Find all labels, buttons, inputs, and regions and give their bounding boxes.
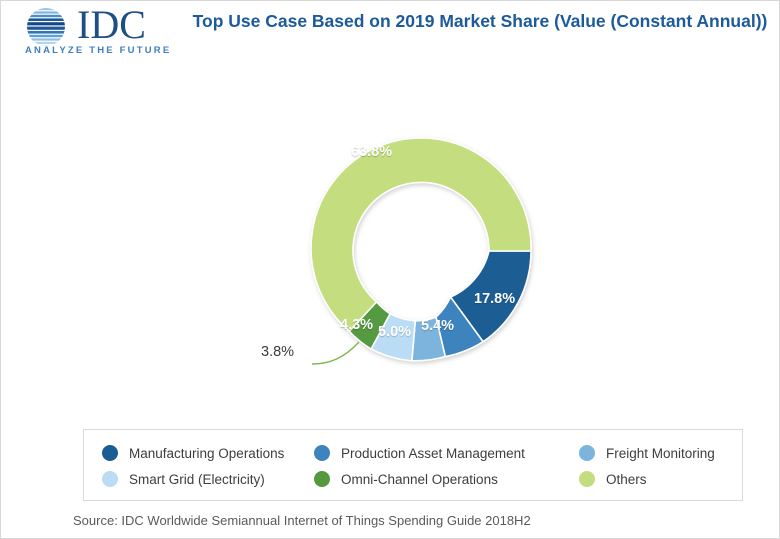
legend-swatch-icon bbox=[314, 471, 330, 487]
idc-wordmark: IDC bbox=[77, 3, 146, 47]
legend-label: Freight Monitoring bbox=[606, 446, 715, 461]
chart-legend: Manufacturing Operations Production Asse… bbox=[83, 429, 743, 501]
legend-item-manufacturing-operations[interactable]: Manufacturing Operations bbox=[102, 445, 314, 461]
legend-swatch-icon bbox=[579, 445, 595, 461]
legend-item-smart-grid-electricity[interactable]: Smart Grid (Electricity) bbox=[102, 471, 314, 487]
legend-item-omni-channel-operations[interactable]: Omni-Channel Operations bbox=[314, 471, 579, 487]
slice-label-freight-monitoring: 5.0% bbox=[378, 324, 411, 340]
idc-tagline: ANALYZE THE FUTURE bbox=[25, 45, 171, 56]
legend-label: Smart Grid (Electricity) bbox=[129, 472, 265, 487]
chart-page: IDC ANALYZE THE FUTURE Top Use Case Base… bbox=[0, 0, 780, 539]
omni-channel-callout-line bbox=[312, 342, 359, 364]
legend-swatch-icon bbox=[579, 471, 595, 487]
legend-label: Others bbox=[606, 472, 647, 487]
slice-label-smart-grid-electricity: 4.3% bbox=[340, 317, 373, 333]
legend-row: Smart Grid (Electricity) Omni-Channel Op… bbox=[102, 466, 742, 492]
page-header: IDC ANALYZE THE FUTURE Top Use Case Base… bbox=[1, 1, 780, 73]
idc-logo: IDC ANALYZE THE FUTURE bbox=[15, 5, 175, 61]
legend-swatch-icon bbox=[102, 471, 118, 487]
donut-chart-svg bbox=[256, 96, 586, 406]
legend-item-freight-monitoring[interactable]: Freight Monitoring bbox=[579, 445, 715, 461]
legend-item-others[interactable]: Others bbox=[579, 471, 647, 487]
legend-label: Omni-Channel Operations bbox=[341, 472, 498, 487]
source-note: Source: IDC Worldwide Semiannual Interne… bbox=[73, 513, 531, 528]
slice-label-omni-channel-operations: 3.8% bbox=[261, 344, 294, 360]
idc-globe-icon bbox=[21, 7, 71, 49]
legend-swatch-icon bbox=[102, 445, 118, 461]
slice-label-manufacturing-operations: 17.8% bbox=[474, 291, 515, 307]
legend-row: Manufacturing Operations Production Asse… bbox=[102, 440, 742, 466]
slice-label-production-asset-management: 5.4% bbox=[421, 318, 454, 334]
legend-item-production-asset-management[interactable]: Production Asset Management bbox=[314, 445, 579, 461]
legend-label: Production Asset Management bbox=[341, 446, 525, 461]
legend-swatch-icon bbox=[314, 445, 330, 461]
legend-label: Manufacturing Operations bbox=[129, 446, 284, 461]
slice-label-others: 63.8% bbox=[351, 144, 392, 160]
chart-title: Top Use Case Based on 2019 Market Share … bbox=[187, 9, 773, 34]
donut-chart: 63.8% 17.8% 5.4% 5.0% 4.3% 3.8% bbox=[256, 96, 586, 406]
